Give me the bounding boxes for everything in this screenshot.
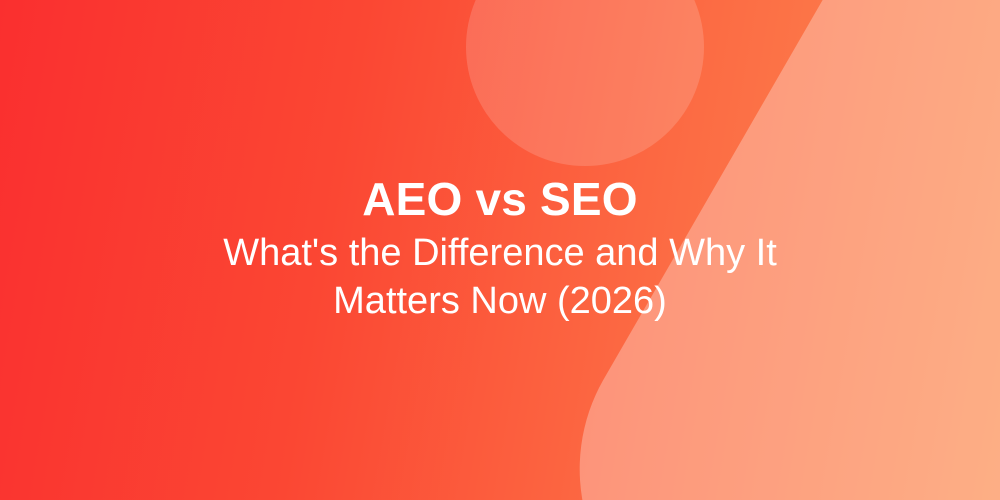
page-title: AEO vs SEO: [362, 174, 638, 226]
hero-banner: AEO vs SEO What's the Difference and Why…: [0, 0, 1000, 500]
banner-text-block: AEO vs SEO What's the Difference and Why…: [0, 0, 1000, 500]
page-subtitle: What's the Difference and Why It Matters…: [170, 230, 830, 326]
